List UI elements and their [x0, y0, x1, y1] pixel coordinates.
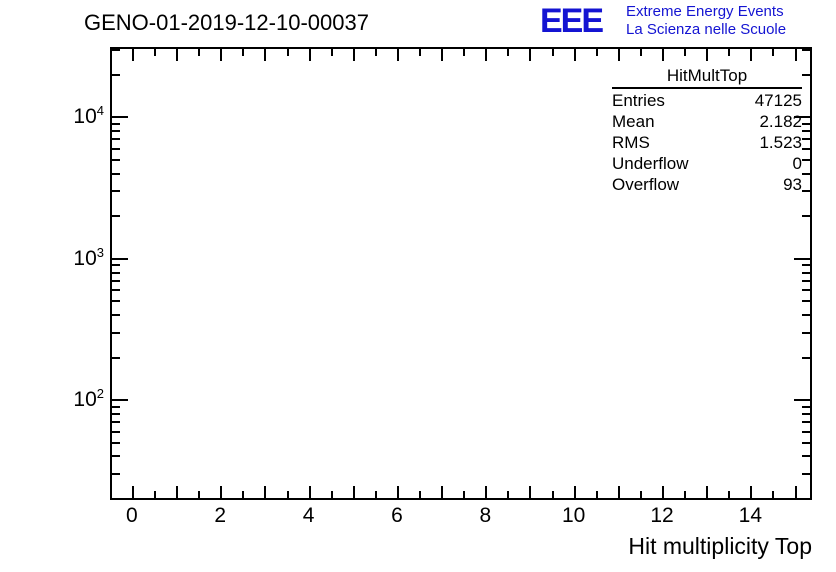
- stats-row-key: RMS: [612, 132, 650, 153]
- y-tick-left: [112, 130, 120, 132]
- y-tick-right: [802, 455, 810, 457]
- eee-logo-line1: Extreme Energy Events: [626, 3, 786, 21]
- eee-logo-mark: EEE: [540, 4, 620, 38]
- x-tick-top: [375, 49, 377, 56]
- y-tick-left: [112, 280, 120, 282]
- stats-row-key: Overflow: [612, 174, 679, 195]
- stats-row: Underflow0: [612, 153, 802, 174]
- stats-row-value: 0: [793, 153, 802, 174]
- y-tick-left: [112, 215, 120, 217]
- x-tick-top: [728, 49, 730, 56]
- y-tick-right: [802, 431, 810, 433]
- x-tick-bottom: [242, 491, 244, 498]
- y-tick-left: [112, 431, 120, 433]
- stats-rows: Entries47125Mean2.182RMS1.523Underflow0O…: [612, 90, 802, 195]
- x-tick-top: [772, 49, 774, 56]
- x-tick-top: [507, 49, 509, 56]
- y-tick-right: [794, 258, 810, 260]
- x-axis-tick-label: 12: [632, 504, 692, 528]
- y-tick-right: [802, 215, 810, 217]
- y-tick-right: [802, 138, 810, 140]
- stats-row: Entries47125: [612, 90, 802, 111]
- y-tick-left: [112, 148, 120, 150]
- page-title: GENO-01-2019-12-10-00037: [84, 10, 369, 36]
- x-tick-top: [309, 49, 311, 61]
- x-tick-top: [552, 49, 554, 56]
- y-tick-right: [802, 406, 810, 408]
- y-tick-right: [802, 421, 810, 423]
- x-tick-top: [529, 49, 531, 61]
- y-tick-right: [802, 74, 810, 76]
- x-axis-tick-label: 10: [544, 504, 604, 528]
- eee-logo-text: Extreme Energy Events La Scienza nelle S…: [626, 3, 786, 39]
- x-tick-top: [419, 49, 421, 56]
- y-tick-left: [112, 455, 120, 457]
- y-tick-left: [112, 421, 120, 423]
- x-tick-top: [662, 49, 664, 61]
- x-tick-bottom: [463, 491, 465, 498]
- x-tick-top: [176, 49, 178, 61]
- y-tick-right: [802, 473, 810, 475]
- y-tick-right: [802, 49, 810, 51]
- x-tick-top: [441, 49, 443, 61]
- y-tick-left: [112, 473, 120, 475]
- y-tick-left: [112, 406, 120, 408]
- x-tick-bottom: [552, 491, 554, 498]
- y-tick-left: [112, 123, 120, 125]
- eee-logo: EEE Extreme Energy Events La Scienza nel…: [540, 2, 832, 42]
- stats-title: HitMultTop: [612, 66, 802, 87]
- x-tick-bottom: [574, 486, 576, 498]
- x-tick-top: [264, 49, 266, 61]
- x-tick-top: [684, 49, 686, 56]
- x-tick-bottom: [220, 486, 222, 498]
- stats-row-value: 93: [783, 174, 802, 195]
- x-axis-tick-label: 4: [279, 504, 339, 528]
- y-tick-right: [802, 289, 810, 291]
- x-tick-bottom: [485, 486, 487, 498]
- y-tick-left: [112, 258, 128, 260]
- y-axis-tick-label: 104: [40, 103, 104, 129]
- y-tick-right: [802, 130, 810, 132]
- x-tick-bottom: [750, 486, 752, 498]
- x-tick-top: [220, 49, 222, 61]
- x-tick-bottom: [154, 491, 156, 498]
- x-tick-top: [287, 49, 289, 56]
- y-tick-left: [112, 74, 120, 76]
- x-tick-top: [154, 49, 156, 56]
- x-tick-top: [574, 49, 576, 61]
- x-tick-bottom: [264, 486, 266, 498]
- x-tick-bottom: [176, 486, 178, 498]
- y-tick-left: [112, 300, 120, 302]
- stats-row-key: Underflow: [612, 153, 689, 174]
- x-tick-bottom: [772, 491, 774, 498]
- y-tick-left: [112, 314, 120, 316]
- x-tick-bottom: [684, 491, 686, 498]
- x-tick-top: [640, 49, 642, 56]
- x-tick-bottom: [596, 491, 598, 498]
- stats-box: HitMultTop Entries47125Mean2.182RMS1.523…: [612, 66, 802, 195]
- root-canvas: GENO-01-2019-12-10-00037 EEE Extreme Ene…: [0, 0, 836, 572]
- x-tick-bottom: [397, 486, 399, 498]
- y-tick-right: [802, 173, 810, 175]
- y-tick-left: [112, 413, 120, 415]
- x-tick-bottom: [353, 486, 355, 498]
- stats-row-value: 2.182: [759, 111, 802, 132]
- y-tick-left: [112, 498, 120, 500]
- x-tick-bottom: [132, 486, 134, 498]
- y-tick-right: [802, 357, 810, 359]
- y-tick-right: [802, 442, 810, 444]
- x-tick-bottom: [441, 486, 443, 498]
- y-tick-right: [802, 123, 810, 125]
- y-tick-left: [112, 332, 120, 334]
- stats-row-value: 47125: [755, 90, 802, 111]
- x-tick-bottom: [618, 486, 620, 498]
- x-tick-top: [132, 49, 134, 61]
- y-tick-right: [802, 272, 810, 274]
- x-tick-bottom: [662, 486, 664, 498]
- x-tick-top: [795, 49, 797, 61]
- y-tick-left: [112, 190, 120, 192]
- y-tick-right: [802, 413, 810, 415]
- y-tick-left: [112, 399, 128, 401]
- x-tick-top: [706, 49, 708, 61]
- x-tick-top: [198, 49, 200, 56]
- x-axis-title: Hit multiplicity Top: [628, 533, 812, 560]
- y-tick-right: [802, 280, 810, 282]
- stats-divider: [612, 87, 802, 89]
- x-tick-bottom: [331, 491, 333, 498]
- y-axis-tick-label: 102: [40, 386, 104, 412]
- stats-row: Overflow93: [612, 174, 802, 195]
- x-tick-bottom: [706, 486, 708, 498]
- y-tick-right: [802, 498, 810, 500]
- x-tick-top: [242, 49, 244, 56]
- x-tick-top: [618, 49, 620, 61]
- y-tick-right: [802, 332, 810, 334]
- y-tick-left: [112, 138, 120, 140]
- y-tick-right: [794, 399, 810, 401]
- x-tick-top: [353, 49, 355, 61]
- y-tick-right: [802, 148, 810, 150]
- x-axis-tick-label: 8: [455, 504, 515, 528]
- x-tick-top: [397, 49, 399, 61]
- x-tick-bottom: [507, 491, 509, 498]
- y-tick-left: [112, 116, 128, 118]
- x-axis-tick-label: 0: [102, 504, 162, 528]
- stats-row-value: 1.523: [759, 132, 802, 153]
- y-tick-left: [112, 159, 120, 161]
- stats-row-key: Entries: [612, 90, 665, 111]
- x-axis-tick-label: 2: [190, 504, 250, 528]
- y-tick-left: [112, 49, 120, 51]
- stats-row: RMS1.523: [612, 132, 802, 153]
- y-tick-left: [112, 442, 120, 444]
- y-tick-right: [802, 159, 810, 161]
- y-tick-left: [112, 272, 120, 274]
- x-tick-bottom: [287, 491, 289, 498]
- x-tick-bottom: [728, 491, 730, 498]
- y-tick-left: [112, 289, 120, 291]
- x-tick-bottom: [375, 491, 377, 498]
- y-tick-left: [112, 357, 120, 359]
- y-tick-right: [802, 300, 810, 302]
- x-axis-tick-label: 6: [367, 504, 427, 528]
- x-tick-bottom: [419, 491, 421, 498]
- y-tick-right: [802, 314, 810, 316]
- y-tick-left: [112, 264, 120, 266]
- x-tick-top: [750, 49, 752, 61]
- y-axis-tick-label: 103: [40, 245, 104, 271]
- x-axis-tick-label: 14: [720, 504, 780, 528]
- x-tick-bottom: [529, 486, 531, 498]
- y-tick-right: [802, 264, 810, 266]
- x-tick-top: [463, 49, 465, 56]
- x-tick-bottom: [309, 486, 311, 498]
- x-tick-top: [331, 49, 333, 56]
- stats-row: Mean2.182: [612, 111, 802, 132]
- y-tick-left: [112, 173, 120, 175]
- y-tick-right: [802, 190, 810, 192]
- stats-row-key: Mean: [612, 111, 655, 132]
- x-tick-bottom: [640, 491, 642, 498]
- x-tick-top: [485, 49, 487, 61]
- x-tick-bottom: [198, 491, 200, 498]
- eee-logo-line2: La Scienza nelle Scuole: [626, 21, 786, 39]
- x-tick-bottom: [795, 486, 797, 498]
- x-tick-top: [596, 49, 598, 56]
